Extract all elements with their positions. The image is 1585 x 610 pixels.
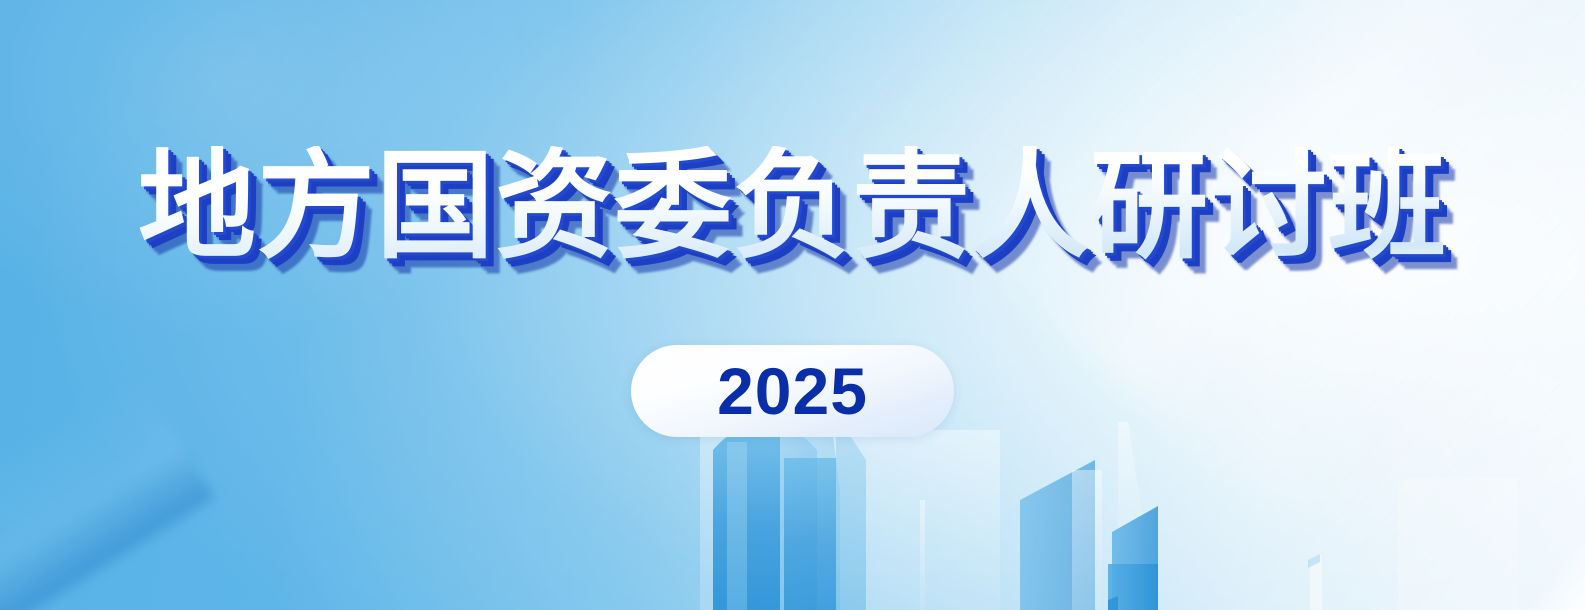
year-badge: 2025 <box>631 345 954 437</box>
light-streak-top-right-icon <box>822 0 1585 610</box>
light-streak-bottom-left-icon <box>0 469 360 610</box>
background-decoration-layer <box>0 0 1585 610</box>
event-banner: 地方国资委负责人研讨班 2025 <box>0 0 1585 610</box>
banner-title-container: 地方国资委负责人研讨班 <box>0 146 1585 270</box>
page-title: 地方国资委负责人研讨班 <box>138 146 1447 270</box>
year-badge-label: 2025 <box>717 358 868 424</box>
year-badge-container: 2025 <box>0 345 1585 437</box>
